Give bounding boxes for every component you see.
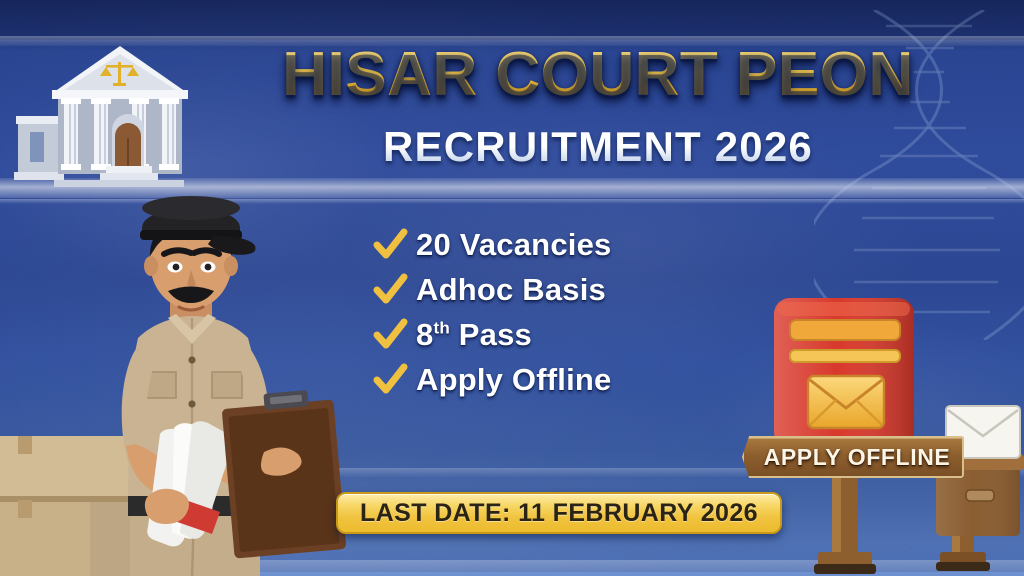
check-icon xyxy=(372,273,408,307)
list-item-label-qualification: 8th Pass xyxy=(416,317,532,353)
courthouse-icon xyxy=(14,36,189,196)
poster-title-wrap: HISAR COURT PEON xyxy=(258,44,938,106)
page-subtitle: RECRUITMENT 2026 xyxy=(258,126,938,168)
sign-plate: APPLY OFFLINE xyxy=(742,436,964,478)
check-icon xyxy=(372,228,408,262)
list-item-label: Apply Offline xyxy=(416,362,612,398)
sign-label: APPLY OFFLINE xyxy=(756,444,951,471)
peon-character xyxy=(42,196,362,576)
mailbox-icon xyxy=(760,276,1024,576)
check-icon xyxy=(372,363,408,397)
check-icon xyxy=(372,318,408,352)
poster-subtitle-wrap: RECRUITMENT 2026 xyxy=(258,126,938,168)
qualification-word: Pass xyxy=(450,317,532,352)
list-item: Adhoc Basis xyxy=(372,267,612,312)
last-date-badge: LAST DATE: 11 FEBRUARY 2026 xyxy=(336,492,782,534)
recruitment-poster: HISAR COURT PEON RECRUITMENT 2026 20 Vac… xyxy=(0,0,1024,576)
page-title: HISAR COURT PEON xyxy=(258,44,938,106)
list-item: 20 Vacancies xyxy=(372,222,612,267)
list-item: 8th Pass xyxy=(372,312,612,357)
list-item-label: Adhoc Basis xyxy=(416,272,606,308)
last-date-text: LAST DATE: 11 FEBRUARY 2026 xyxy=(360,499,758,528)
apply-offline-sign: APPLY OFFLINE xyxy=(742,436,964,478)
highlights-list: 20 Vacancies Adhoc Basis 8th Pass Apply … xyxy=(372,222,612,402)
qualification-ordinal-suffix: th xyxy=(433,318,449,337)
qualification-number: 8 xyxy=(416,317,433,352)
list-item: Apply Offline xyxy=(372,357,612,402)
list-item-label: 20 Vacancies xyxy=(416,227,611,263)
